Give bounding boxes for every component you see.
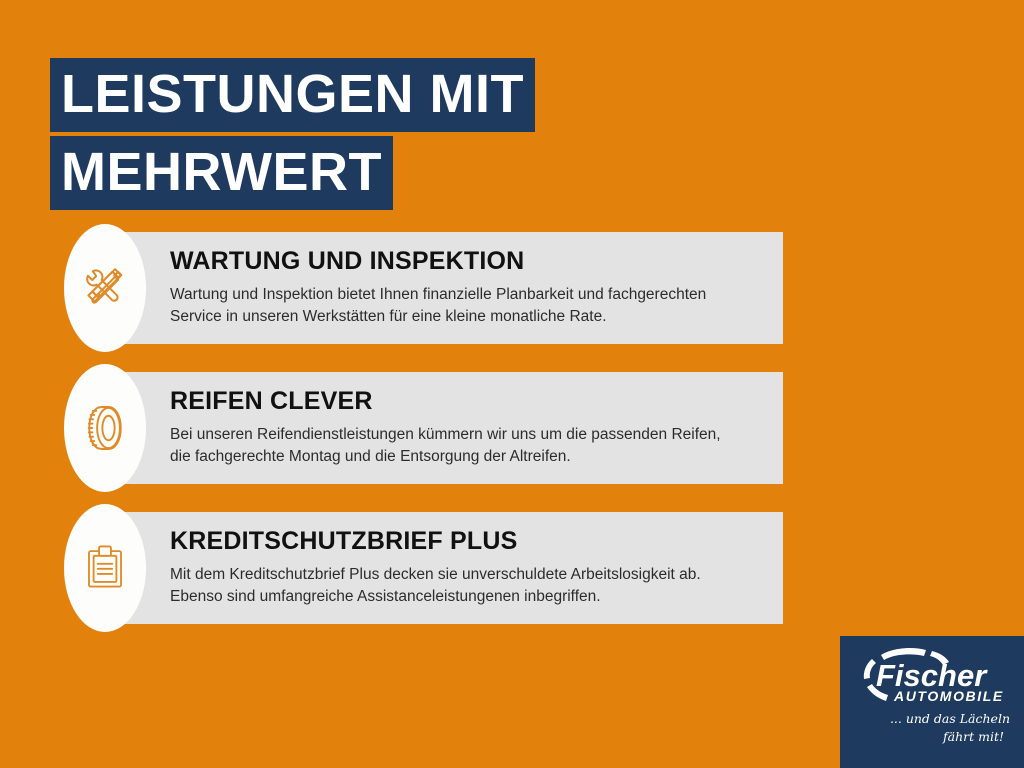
tire-icon: [64, 364, 146, 492]
page-title-line-2: MEHRWERT: [50, 136, 750, 210]
card-description-line-2: die fachgerechte Montag und die Entsorgu…: [170, 446, 770, 468]
card-description-line-1: Wartung und Inspektion bietet Ihnen fina…: [170, 284, 770, 306]
service-card[interactable]: KREDITSCHUTZBRIEF PLUS Mit dem Kreditsch…: [0, 512, 1024, 624]
service-card[interactable]: WARTUNG UND INSPEKTION Wartung und Inspe…: [0, 232, 1024, 344]
page-title-text-2: MEHRWERT: [50, 136, 393, 210]
card-description: Bei unseren Reifendienstleistungen kümme…: [170, 424, 770, 468]
logo-tagline-line-2: fährt mit!: [840, 728, 1010, 746]
wrench-screwdriver-icon: [64, 224, 146, 352]
card-title: KREDITSCHUTZBRIEF PLUS: [170, 528, 770, 556]
card-description-line-2: Service in unseren Werkstätten für eine …: [170, 306, 770, 328]
card-description-line-1: Bei unseren Reifendienstleistungen kümme…: [170, 424, 770, 446]
logo-subbrand-text: AUTOMOBILE: [893, 688, 1004, 704]
page-title-line-1: LEISTUNGEN MIT: [50, 58, 750, 132]
card-body: REIFEN CLEVER Bei unseren Reifendienstle…: [170, 372, 770, 484]
fischer-automobile-logo: Fischer AUTOMOBILE ... und das Lächeln f…: [840, 636, 1024, 768]
card-title: REIFEN CLEVER: [170, 388, 770, 416]
card-description: Wartung und Inspektion bietet Ihnen fina…: [170, 284, 770, 328]
page-title-text-1: LEISTUNGEN MIT: [50, 58, 535, 132]
card-body: WARTUNG UND INSPEKTION Wartung und Inspe…: [170, 232, 770, 344]
card-body: KREDITSCHUTZBRIEF PLUS Mit dem Kreditsch…: [170, 512, 770, 624]
logo-mark: Fischer AUTOMOBILE: [850, 644, 1018, 708]
clipboard-icon: [64, 504, 146, 632]
card-description-line-2: Ebenso sind umfangreiche Assistanceleist…: [170, 586, 770, 608]
service-card-list: WARTUNG UND INSPEKTION Wartung und Inspe…: [0, 232, 1024, 652]
service-card[interactable]: REIFEN CLEVER Bei unseren Reifendienstle…: [0, 372, 1024, 484]
logo-tagline-line-1: ... und das Lächeln: [840, 710, 1010, 728]
card-description: Mit dem Kreditschutzbrief Plus decken si…: [170, 564, 770, 608]
card-title: WARTUNG UND INSPEKTION: [170, 248, 770, 276]
card-description-line-1: Mit dem Kreditschutzbrief Plus decken si…: [170, 564, 770, 586]
page-title: LEISTUNGEN MIT MEHRWERT: [50, 58, 750, 214]
logo-tagline: ... und das Lächeln fährt mit!: [840, 710, 1024, 746]
